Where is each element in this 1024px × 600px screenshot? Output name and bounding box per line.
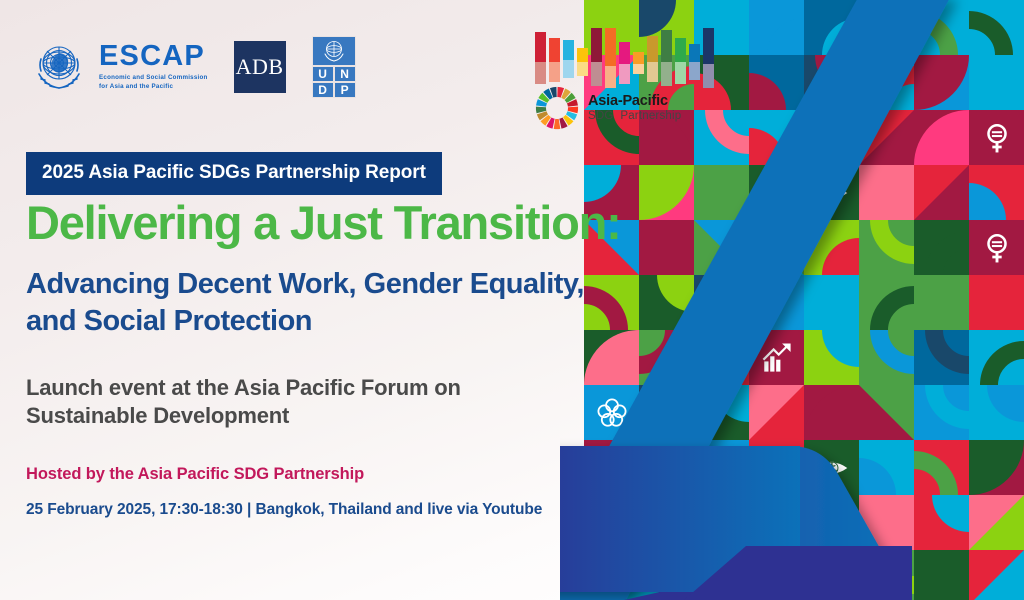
undp-emblem [312, 36, 356, 66]
partnership-bar [619, 42, 630, 84]
partnership-bar [689, 44, 700, 80]
undp-logo: U N D P [312, 36, 356, 98]
partnership-partnership-label: Partnership [620, 110, 681, 122]
undp-letter-n: N [334, 66, 356, 82]
event-description: Launch event at the Asia Pacific Forum o… [26, 374, 461, 430]
page-subtitle: Advancing Decent Work, Gender Equality, … [26, 266, 584, 340]
partnership-bar [633, 52, 644, 74]
escap-logo: ESCAP Economic and Social Commission for… [28, 39, 208, 95]
partnership-bar [605, 28, 616, 88]
adb-logo: ADB [234, 41, 286, 93]
escap-wordmark: ESCAP [99, 42, 208, 71]
partnership-bar [535, 32, 546, 84]
partnership-bar-graphic [535, 28, 720, 80]
partnership-bar [647, 36, 658, 82]
undp-letter-d: D [312, 82, 334, 98]
partnership-bar [661, 30, 672, 86]
partnership-bar [591, 28, 602, 86]
partner-logo-row: ESCAP Economic and Social Commission for… [28, 36, 356, 98]
content-column: ESCAP Economic and Social Commission for… [0, 0, 660, 600]
undp-letter-u: U [312, 66, 334, 82]
sdg-colour-wheel-icon [535, 86, 579, 130]
page-title: Delivering a Just Transition: [26, 199, 621, 246]
escap-tagline-2: for Asia and the Pacific [99, 83, 173, 90]
event-line-2: Sustainable Development [26, 403, 289, 428]
event-datetime-location: 25 February 2025, 17:30-18:30 | Bangkok,… [26, 501, 542, 519]
partnership-sdg-label: SDG [588, 110, 614, 122]
event-line-1: Launch event at the Asia Pacific Forum o… [26, 375, 461, 400]
un-globe-laurel-icon [321, 38, 347, 64]
partnership-bar [577, 48, 588, 76]
partnership-bar [703, 28, 714, 88]
partnership-bar [675, 38, 686, 84]
un-globe-laurel-icon [28, 39, 90, 95]
escap-tagline-1: Economic and Social Commission [99, 74, 208, 81]
report-badge: 2025 Asia Pacific SDGs Partnership Repor… [26, 152, 442, 195]
undp-letter-p: P [334, 82, 356, 98]
event-host: Hosted by the Asia Pacific SDG Partnersh… [26, 465, 364, 484]
partnership-name: Asia-Pacific [588, 93, 681, 110]
partnership-bar [563, 40, 574, 78]
subtitle-line-1: Advancing Decent Work, Gender Equality, [26, 268, 584, 300]
adb-wordmark: ADB [236, 54, 284, 80]
partnership-bar [549, 38, 560, 82]
poster-canvas: ESCAP Economic and Social Commission for… [0, 0, 1024, 600]
asia-pacific-sdg-partnership-logo: Asia-Pacific SDG Partnership [535, 28, 720, 130]
sdg-wheel-segment [554, 119, 561, 129]
subtitle-line-2: and Social Protection [26, 305, 312, 337]
